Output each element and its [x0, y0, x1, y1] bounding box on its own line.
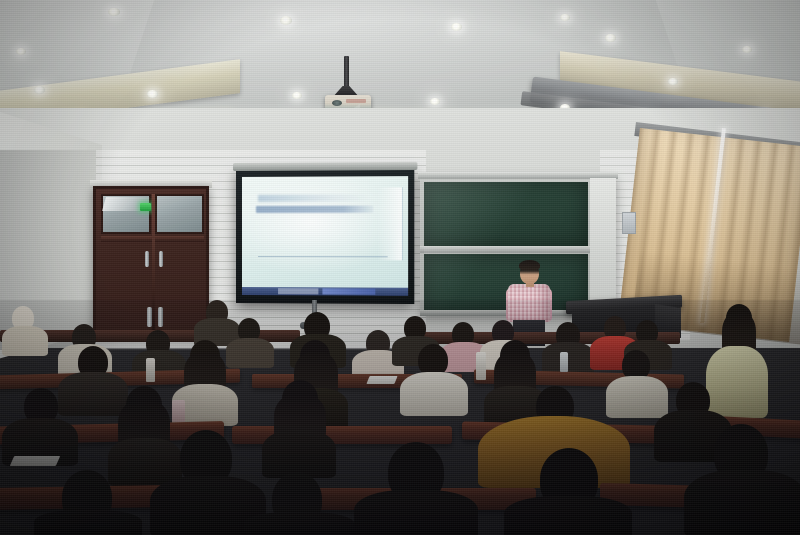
downlight — [292, 92, 302, 99]
person-shoulders — [226, 338, 274, 368]
door-handle-right[interactable] — [159, 251, 163, 267]
taskbar-window-active[interactable] — [322, 288, 375, 294]
water-bottle[interactable] — [560, 352, 568, 372]
downlight — [668, 78, 678, 85]
person-shoulders — [354, 490, 478, 535]
downlight — [16, 48, 26, 55]
person-shoulders — [262, 430, 336, 478]
person-shoulders — [2, 326, 48, 356]
entry-door[interactable] — [93, 186, 209, 336]
paper-sheet[interactable] — [10, 456, 60, 466]
person-shoulders — [504, 496, 632, 535]
person-shoulders — [34, 510, 142, 535]
downlight — [147, 90, 158, 98]
downlight — [605, 34, 616, 42]
projector-lens-icon — [332, 100, 342, 106]
paper-sheet[interactable] — [366, 376, 397, 384]
door-push-bar-right[interactable] — [158, 307, 163, 327]
slide-content-panel — [377, 187, 403, 260]
person-shoulders — [542, 342, 594, 374]
downlight — [451, 23, 462, 31]
person-cream-coat-standing — [706, 346, 768, 418]
screen-roller-housing — [233, 162, 417, 171]
person-shoulders — [606, 376, 668, 418]
projector-mount-pole — [344, 56, 349, 90]
person-white-sweater — [400, 372, 468, 416]
exit-sign-icon — [140, 203, 151, 211]
water-bottle[interactable] — [146, 358, 155, 382]
downlight — [34, 86, 45, 94]
slide-title-text — [258, 195, 369, 202]
blackboard-top-rail — [418, 172, 618, 179]
blackboard-side-panel — [590, 178, 616, 316]
door-center-seam — [152, 194, 155, 334]
wall-switch-plate[interactable] — [622, 212, 636, 234]
presenter-hair — [519, 260, 540, 271]
lecture-hall-photo — [0, 0, 800, 535]
thermos[interactable] — [476, 352, 486, 380]
downlight — [430, 98, 440, 105]
slide-body-text — [256, 206, 373, 213]
person-shoulders — [244, 512, 354, 535]
door-push-bar-left[interactable] — [147, 307, 152, 327]
downlight — [560, 14, 570, 21]
taskbar-window-inactive[interactable] — [278, 288, 318, 294]
cup[interactable] — [172, 400, 185, 422]
person-shoulders — [684, 470, 800, 535]
person-shoulders — [58, 372, 128, 416]
door-handle-left[interactable] — [145, 251, 149, 267]
projector-label — [346, 99, 366, 103]
downlight — [280, 16, 292, 25]
door-glass-panel-right — [155, 194, 204, 234]
downlight — [742, 46, 752, 53]
downlight — [108, 8, 120, 16]
projection-screen — [236, 169, 414, 304]
presenter-shirt — [508, 284, 550, 322]
